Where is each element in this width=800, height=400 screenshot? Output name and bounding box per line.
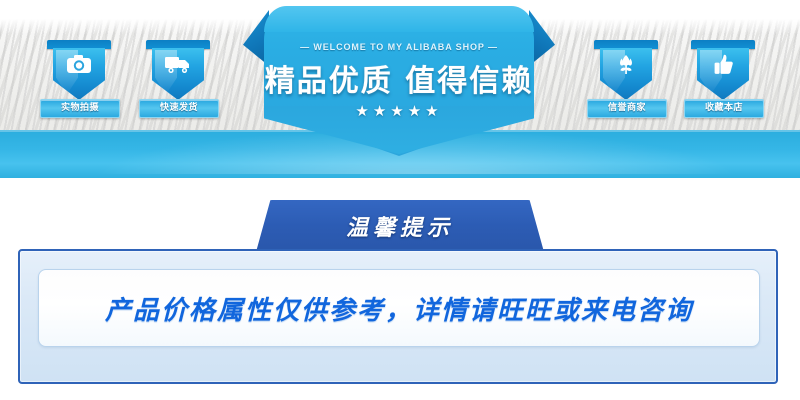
banner-ribbon: — WELCOME TO MY ALIBABA SHOP — 精品优质 值得信赖… xyxy=(243,6,555,166)
camera-icon xyxy=(53,54,105,79)
truck-icon xyxy=(152,54,204,79)
ribbon-face-highlight xyxy=(264,6,534,32)
flower-icon xyxy=(600,54,652,81)
star-rating: ★★★★★ xyxy=(264,102,534,120)
badge-label-fast-shipping[interactable]: 快速发货 xyxy=(139,99,219,118)
tip-tab-label: 温馨提示 xyxy=(256,210,544,242)
pennant-tab xyxy=(691,40,755,49)
pennant-tab xyxy=(594,40,658,49)
thumbs-up-icon xyxy=(697,54,749,81)
badge-label-favorite-shop[interactable]: 收藏本店 xyxy=(684,99,764,118)
page-root: 实物拍摄 快速发货 xyxy=(0,0,800,400)
pennant-tab xyxy=(146,40,210,49)
notice-section: 温馨提示 产品价格属性仅供参考，详情请旺旺或来电咨询 安平县启鹏金属制品厂 hu… xyxy=(0,186,800,400)
badge-label-trusted-merchant[interactable]: 信誉商家 xyxy=(587,99,667,118)
pennant-tab xyxy=(47,40,111,49)
shop-banner: 实物拍摄 快速发货 xyxy=(0,0,800,178)
badge-label-real-photo[interactable]: 实物拍摄 xyxy=(40,99,120,118)
notice-message: 产品价格属性仅供参考，详情请旺旺或来电咨询 xyxy=(38,269,760,347)
banner-headline: 精品优质 值得信赖 xyxy=(264,56,534,100)
welcome-text: — WELCOME TO MY ALIBABA SHOP — xyxy=(264,42,534,52)
